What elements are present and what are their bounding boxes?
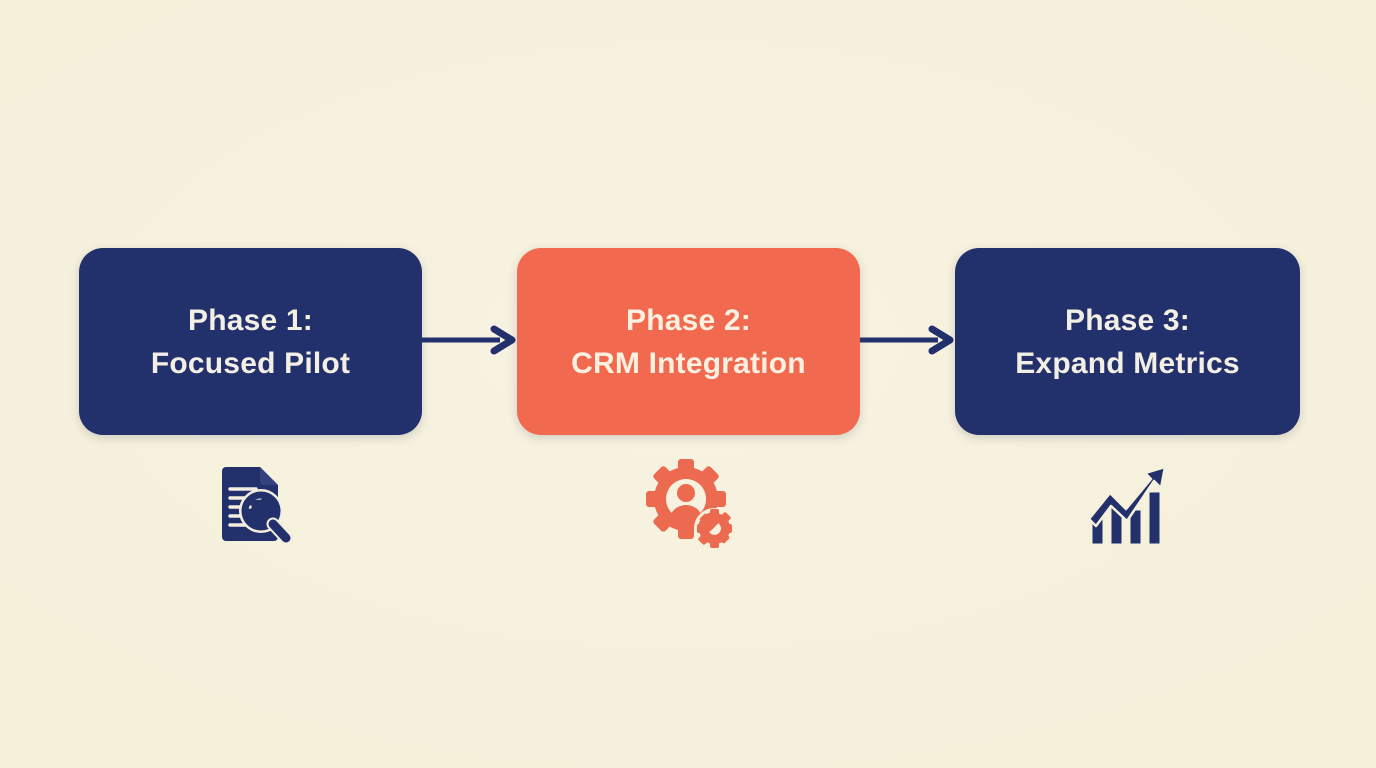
phase-2-box[interactable]: Phase 2: CRM Integration	[517, 248, 860, 435]
gear-user-icon	[642, 457, 738, 553]
phase-3-label-line-2: Expand Metrics	[1015, 342, 1240, 385]
phase-3-label-line-1: Phase 3:	[1065, 299, 1190, 342]
phase-2-label-line-1: Phase 2:	[626, 299, 751, 342]
connector-arrow-phase2-to-phase3	[860, 325, 957, 355]
phase-3-icon-wrapper	[1065, 450, 1185, 560]
phase-1-box[interactable]: Phase 1: Focused Pilot	[79, 248, 422, 435]
process-flow-diagram: Phase 1: Focused Pilot Phase 2: CRM Inte…	[0, 0, 1376, 768]
phase-2-label-line-2: CRM Integration	[571, 342, 806, 385]
document-search-icon	[202, 457, 298, 553]
growth-bar-chart-arrow-icon	[1077, 457, 1173, 553]
phase-2-icon-wrapper	[630, 450, 750, 560]
phase-1-label-line-1: Phase 1:	[188, 299, 313, 342]
connector-arrow-phase1-to-phase2	[422, 325, 519, 355]
phase-1-icon-wrapper	[190, 450, 310, 560]
phase-1-label-line-2: Focused Pilot	[151, 342, 350, 385]
phase-3-box[interactable]: Phase 3: Expand Metrics	[955, 248, 1300, 435]
